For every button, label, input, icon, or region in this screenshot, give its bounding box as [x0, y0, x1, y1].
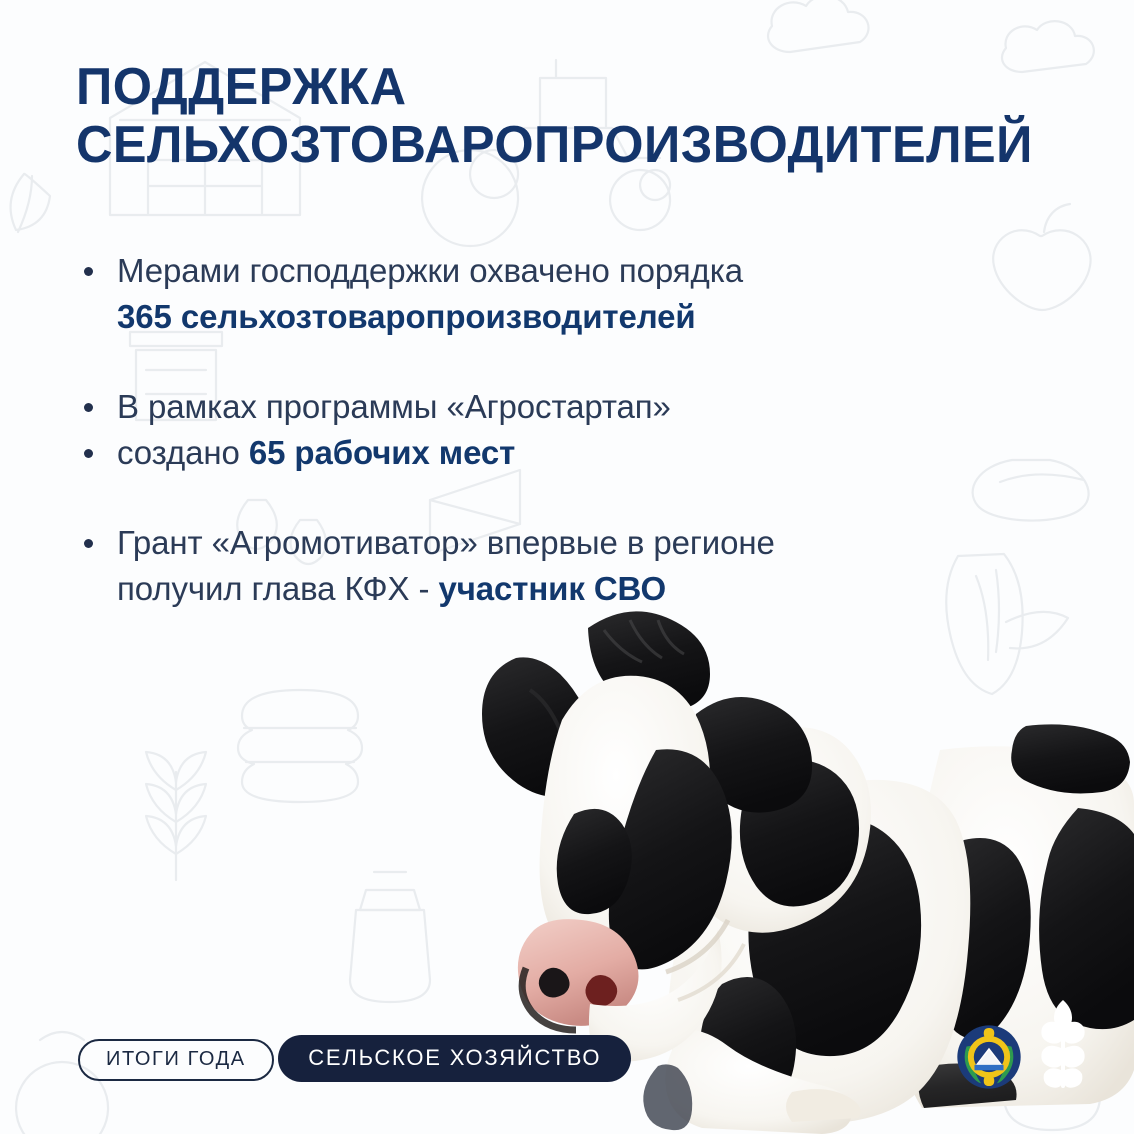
karachay-cherkessia-emblem-icon — [956, 1024, 1022, 1090]
year-results-badge[interactable]: ИТОГИ ГОДА — [78, 1039, 274, 1081]
bullet-3-text-2: получил глава КФХ - участник СВО — [117, 566, 666, 612]
bullet-2-line-1: В рамках программы «Агростартап» — [84, 384, 984, 430]
bullet-dot-icon — [84, 539, 93, 548]
bullet-2-prefix: создано — [117, 434, 249, 471]
bullet-1-line-1: Мерами господдержки охвачено порядка — [84, 248, 984, 294]
bullet-item-2: В рамках программы «Агростартап» создано… — [84, 384, 984, 476]
bullet-2-text-1: В рамках программы «Агростартап» — [117, 384, 671, 430]
badge-group: ИТОГИ ГОДА СЕЛЬСКОЕ ХОЗЯЙСТВО — [66, 1039, 631, 1082]
bullet-dot-icon — [84, 449, 93, 458]
page-title: ПОДДЕРЖКА СЕЛЬХОЗТОВАРОПРОИЗВОДИТЕЛЕЙ — [76, 58, 1062, 174]
bullet-item-3: Грант «Агромотиватор» впервые в регионе … — [84, 520, 984, 612]
topic-badge[interactable]: СЕЛЬСКОЕ ХОЗЯЙСТВО — [278, 1035, 631, 1082]
bullet-3-text-1: Грант «Агромотиватор» впервые в регионе — [117, 520, 775, 566]
bullet-1-line-2: 365 сельхозтоваропроизводителей — [84, 294, 984, 340]
bullet-dot-icon — [84, 267, 93, 276]
bullet-1-text-2: 365 сельхозтоваропроизводителей — [117, 294, 696, 340]
bullet-item-1: Мерами господдержки охвачено порядка 365… — [84, 248, 984, 340]
title-line-2: СЕЛЬХОЗТОВАРОПРОИЗВОДИТЕЛЕЙ — [76, 116, 1033, 174]
bullet-3-line-1: Грант «Агромотиватор» впервые в регионе — [84, 520, 984, 566]
bullet-list: Мерами господдержки охвачено порядка 365… — [84, 248, 984, 612]
bullet-3-highlight: участник СВО — [438, 570, 666, 607]
bullet-2-highlight: 65 рабочих мест — [249, 434, 515, 471]
bullet-2-text-2: создано 65 рабочих мест — [117, 430, 515, 476]
bullet-1-text-1: Мерами господдержки охвачено порядка — [117, 248, 743, 294]
bullet-3-prefix: получил глава КФХ - — [117, 570, 438, 607]
bullet-dot-spacer-icon — [84, 585, 93, 594]
bullet-2-line-2: создано 65 рабочих мест — [84, 430, 984, 476]
bullet-3-line-2: получил глава КФХ - участник СВО — [84, 566, 984, 612]
bullet-1-highlight: 365 сельхозтоваропроизводителей — [117, 298, 696, 335]
wheat-stalk-icon — [1040, 998, 1086, 1090]
infographic-canvas: ПОДДЕРЖКА СЕЛЬХОЗТОВАРОПРОИЗВОДИТЕЛЕЙ Ме… — [0, 0, 1134, 1134]
emblem-group — [956, 998, 1086, 1090]
bullet-dot-spacer-icon — [84, 313, 93, 322]
title-line-1: ПОДДЕРЖКА — [76, 58, 1033, 116]
bullet-dot-icon — [84, 403, 93, 412]
